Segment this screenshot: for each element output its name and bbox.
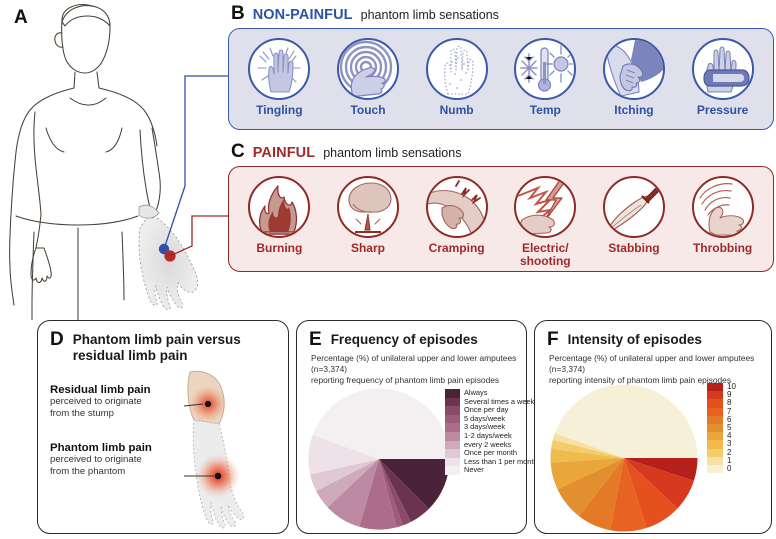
panel-b: B NON-PAINFUL phantom limb sensations Ti…: [228, 4, 774, 134]
legend-swatch: [445, 458, 460, 467]
callout-phantom-limb-pain: Phantom limb pain perceived to originate…: [50, 442, 185, 477]
sensation-item-burning[interactable]: Burning: [237, 176, 321, 255]
sensation-item-touch[interactable]: Touch: [326, 38, 410, 117]
colorbar-band: [707, 416, 723, 424]
colorbar-band: [707, 449, 723, 457]
knife-icon: [603, 176, 665, 238]
sensation-label: Electric/ shooting: [503, 242, 587, 267]
panel-e: E Frequency of episodes Percentage (%) o…: [296, 320, 527, 534]
sensation-label: Tingling: [237, 104, 321, 117]
touch-ripple-icon: [337, 38, 399, 100]
sensation-item-electric-shooting[interactable]: Electric/ shooting: [503, 176, 587, 267]
sensation-item-stabbing[interactable]: Stabbing: [592, 176, 676, 255]
colorbar-ticks: 109876543210: [727, 383, 736, 473]
tingling-hand-icon: [248, 38, 310, 100]
sharp-nail-icon: [337, 176, 399, 238]
panel-e-subtitle: Percentage (%) of unilateral upper and l…: [297, 349, 526, 386]
panel-e-heading: E Frequency of episodes: [297, 321, 526, 349]
panel-c: C PAINFUL phantom limb sensations Burnin…: [228, 142, 774, 274]
sensation-label: Cramping: [415, 242, 499, 255]
sensation-label: Burning: [237, 242, 321, 255]
panel-f-heading: F Intensity of episodes: [535, 321, 771, 349]
colorbar-band: [707, 432, 723, 440]
callout-title: Phantom limb pain: [50, 442, 185, 454]
legend-swatch: [445, 389, 460, 398]
sensation-label: Throbbing: [681, 242, 765, 255]
panel-b-subtitle: phantom limb sensations: [361, 8, 499, 22]
frequency-of-episodes-pie-chart: [307, 387, 451, 531]
legend-swatch: [445, 423, 460, 432]
numb-hand-icon: [426, 38, 488, 100]
thermometer-sun-snowflake-icon: [514, 38, 576, 100]
sensation-item-pressure[interactable]: Pressure: [681, 38, 765, 117]
colorbar-tick-label: 0: [727, 465, 736, 473]
legend-swatch: [445, 432, 460, 441]
callout-title: Residual limb pain: [50, 384, 185, 396]
legend-swatch: [445, 406, 460, 415]
panel-a: A: [0, 0, 210, 320]
sensation-item-itching[interactable]: Itching: [592, 38, 676, 117]
colorbar-band: [707, 465, 723, 473]
legend-swatch: [445, 415, 460, 424]
flame-icon: [248, 176, 310, 238]
sensation-item-sharp[interactable]: Sharp: [326, 176, 410, 255]
panel-b-letter: B: [231, 4, 245, 23]
sensation-label: Sharp: [326, 242, 410, 255]
sensation-label: Itching: [592, 104, 676, 117]
sensation-label: Temp: [503, 104, 587, 117]
sensation-item-temp[interactable]: Temp: [503, 38, 587, 117]
sensation-item-throbbing[interactable]: Throbbing: [681, 176, 765, 255]
painful-sensations-box: Burning Sharp: [228, 166, 774, 272]
pressure-hand-clamp-icon: [692, 38, 754, 100]
frequency-legend: AlwaysSeveral times a weekOnce per day5 …: [445, 389, 538, 475]
panel-b-heading: B NON-PAINFUL phantom limb sensations: [228, 4, 774, 24]
legend-swatches: [445, 389, 460, 475]
panel-d-letter: D: [50, 330, 64, 349]
sensation-item-cramping[interactable]: Cramping: [415, 176, 499, 255]
itching-arm-scratch-icon: [603, 38, 665, 100]
intensity-pie-wrap: [549, 383, 699, 538]
panel-c-kind: PAINFUL: [253, 145, 315, 161]
colorbar-band: [707, 457, 723, 465]
nonpainful-sensations-box: Tingling Touch: [228, 28, 774, 130]
legend-swatch: [445, 398, 460, 407]
legend-label: Never: [464, 466, 538, 475]
panel-f-letter: F: [547, 330, 559, 349]
legend-swatch: [445, 449, 460, 458]
legend-swatch: [445, 441, 460, 450]
sensation-label: Stabbing: [592, 242, 676, 255]
colorbar-band: [707, 391, 723, 399]
panel-d-body: Residual limb pain perceived to originat…: [38, 364, 288, 524]
frequency-pie-wrap: [307, 387, 451, 536]
sensation-label: Numb: [415, 104, 499, 117]
intensity-of-episodes-pie-chart: [549, 383, 699, 533]
throbbing-thumb-icon: [692, 176, 754, 238]
lightning-bolt-hand-icon: [514, 176, 576, 238]
panel-c-heading: C PAINFUL phantom limb sensations: [228, 142, 774, 162]
panel-d: D Phantom limb pain versus residual limb…: [37, 320, 289, 534]
colorbar-band: [707, 440, 723, 448]
callout-description: perceived to originate from the stump: [50, 396, 185, 419]
panel-f: F Intensity of episodes Percentage (%) o…: [534, 320, 772, 534]
legend-labels: AlwaysSeveral times a weekOnce per day5 …: [464, 389, 538, 475]
panel-c-subtitle: phantom limb sensations: [323, 146, 461, 160]
sensation-item-numb[interactable]: Numb: [415, 38, 499, 117]
callout-description: perceived to originate from the phantom: [50, 454, 185, 477]
panel-d-title: Phantom limb pain versus residual limb p…: [73, 330, 241, 364]
panel-d-heading: D Phantom limb pain versus residual limb…: [38, 321, 288, 364]
legend-swatch: [445, 466, 460, 475]
sensation-item-tingling[interactable]: Tingling: [237, 38, 321, 117]
panel-f-subtitle: Percentage (%) of unilateral upper and l…: [535, 349, 771, 386]
colorbar-band: [707, 408, 723, 416]
panel-e-letter: E: [309, 330, 322, 349]
colorbar-band: [707, 424, 723, 432]
sensation-label: Touch: [326, 104, 410, 117]
cramping-arm-icon: [426, 176, 488, 238]
panel-c-letter: C: [231, 142, 245, 161]
colorbar-band: [707, 399, 723, 407]
panel-f-title: Intensity of episodes: [568, 330, 702, 348]
sensation-label: Pressure: [681, 104, 765, 117]
colorbar-gradient: [707, 383, 723, 473]
intensity-colorbar: 109876543210: [707, 383, 736, 473]
painful-marker-dot: [164, 250, 175, 261]
callout-residual-limb-pain: Residual limb pain perceived to originat…: [50, 384, 185, 419]
body-outline-illustration: [0, 0, 210, 320]
panel-e-title: Frequency of episodes: [331, 330, 478, 348]
panel-b-kind: NON-PAINFUL: [253, 7, 353, 23]
colorbar-band: [707, 383, 723, 391]
